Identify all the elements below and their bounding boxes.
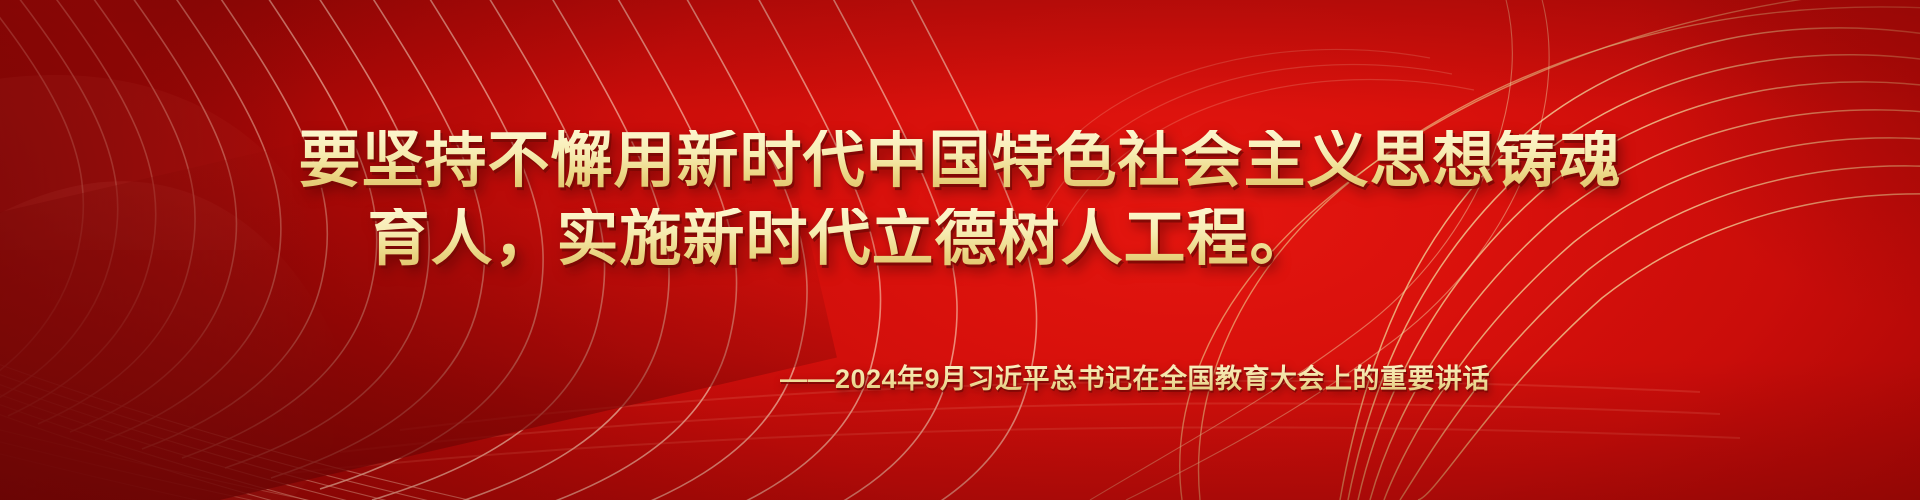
attribution-source: ——2024年9月习近平总书记在全国教育大会上的重要讲话 <box>0 357 1920 396</box>
headline-line-1: 要坚持不懈用新时代中国特色社会主义思想铸魂 <box>0 130 1920 192</box>
headline-line-2: 育人，实施新时代立德树人工程。 <box>0 208 1920 270</box>
propaganda-banner: 要坚持不懈用新时代中国特色社会主义思想铸魂 育人，实施新时代立德树人工程。 ——… <box>0 0 1920 500</box>
banner-content: 要坚持不懈用新时代中国特色社会主义思想铸魂 育人，实施新时代立德树人工程。 ——… <box>0 0 1920 500</box>
